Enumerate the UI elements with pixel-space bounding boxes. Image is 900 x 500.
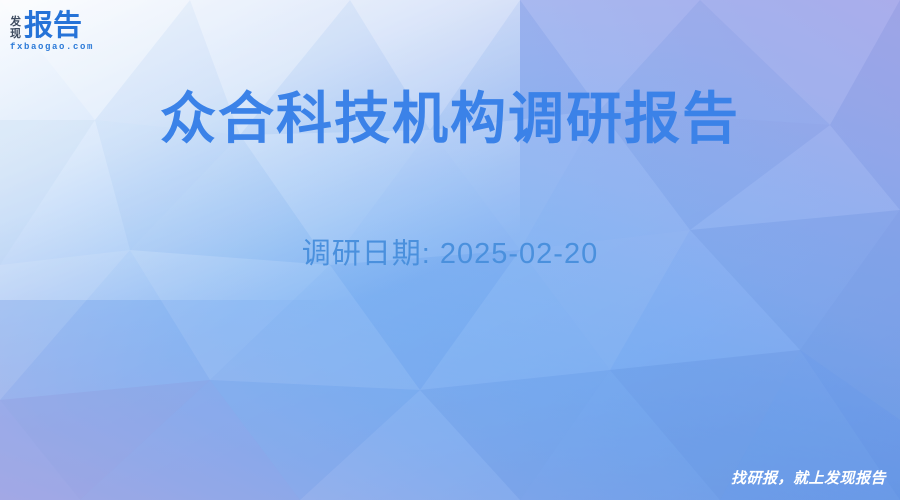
logo-url: fxbaogao.com [10, 42, 160, 53]
fxbaogao-logo[interactable]: 发 现 报告 fxbaogao.com [10, 8, 160, 58]
logo-char-xian: 现 [10, 28, 21, 40]
footer-tagline: 找研报，就上发现报告 [731, 468, 886, 490]
survey-date: 调研日期: 2025-02-20 [0, 234, 900, 274]
logo-wordmark: 报告 [24, 11, 82, 41]
logo-char-fa: 发 [10, 16, 21, 28]
page-title: 众合科技机构调研报告 [0, 86, 900, 152]
logo-wordmark-row: 发 现 报告 [10, 8, 160, 41]
logo-stacked-chars: 发 现 [10, 16, 21, 41]
report-cover-slide: 发 现 报告 fxbaogao.com 众合科技机构调研报告 调研日期: 202… [0, 0, 900, 500]
